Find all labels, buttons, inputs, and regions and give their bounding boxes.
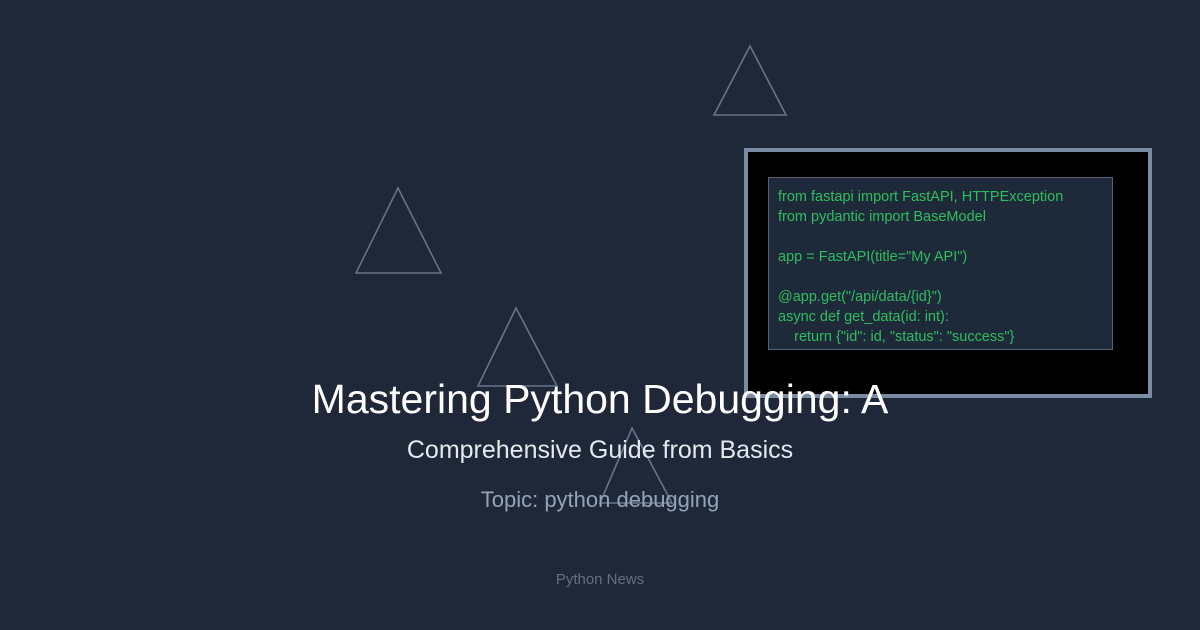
- triangle-top-right-icon: [714, 46, 786, 115]
- code-editor-area: from fastapi import FastAPI, HTTPExcepti…: [768, 177, 1113, 350]
- page-title: Mastering Python Debugging: A: [0, 375, 1200, 423]
- topic-label: Topic: python debugging: [0, 485, 1200, 515]
- code-panel: from fastapi import FastAPI, HTTPExcepti…: [744, 148, 1152, 398]
- brand-footer: Python News: [0, 569, 1200, 591]
- page-subtitle: Comprehensive Guide from Basics: [0, 434, 1200, 466]
- triangle-mid-left-icon: [356, 188, 441, 273]
- social-card: from fastapi import FastAPI, HTTPExcepti…: [0, 0, 1200, 630]
- code-snippet: from fastapi import FastAPI, HTTPExcepti…: [778, 187, 1063, 347]
